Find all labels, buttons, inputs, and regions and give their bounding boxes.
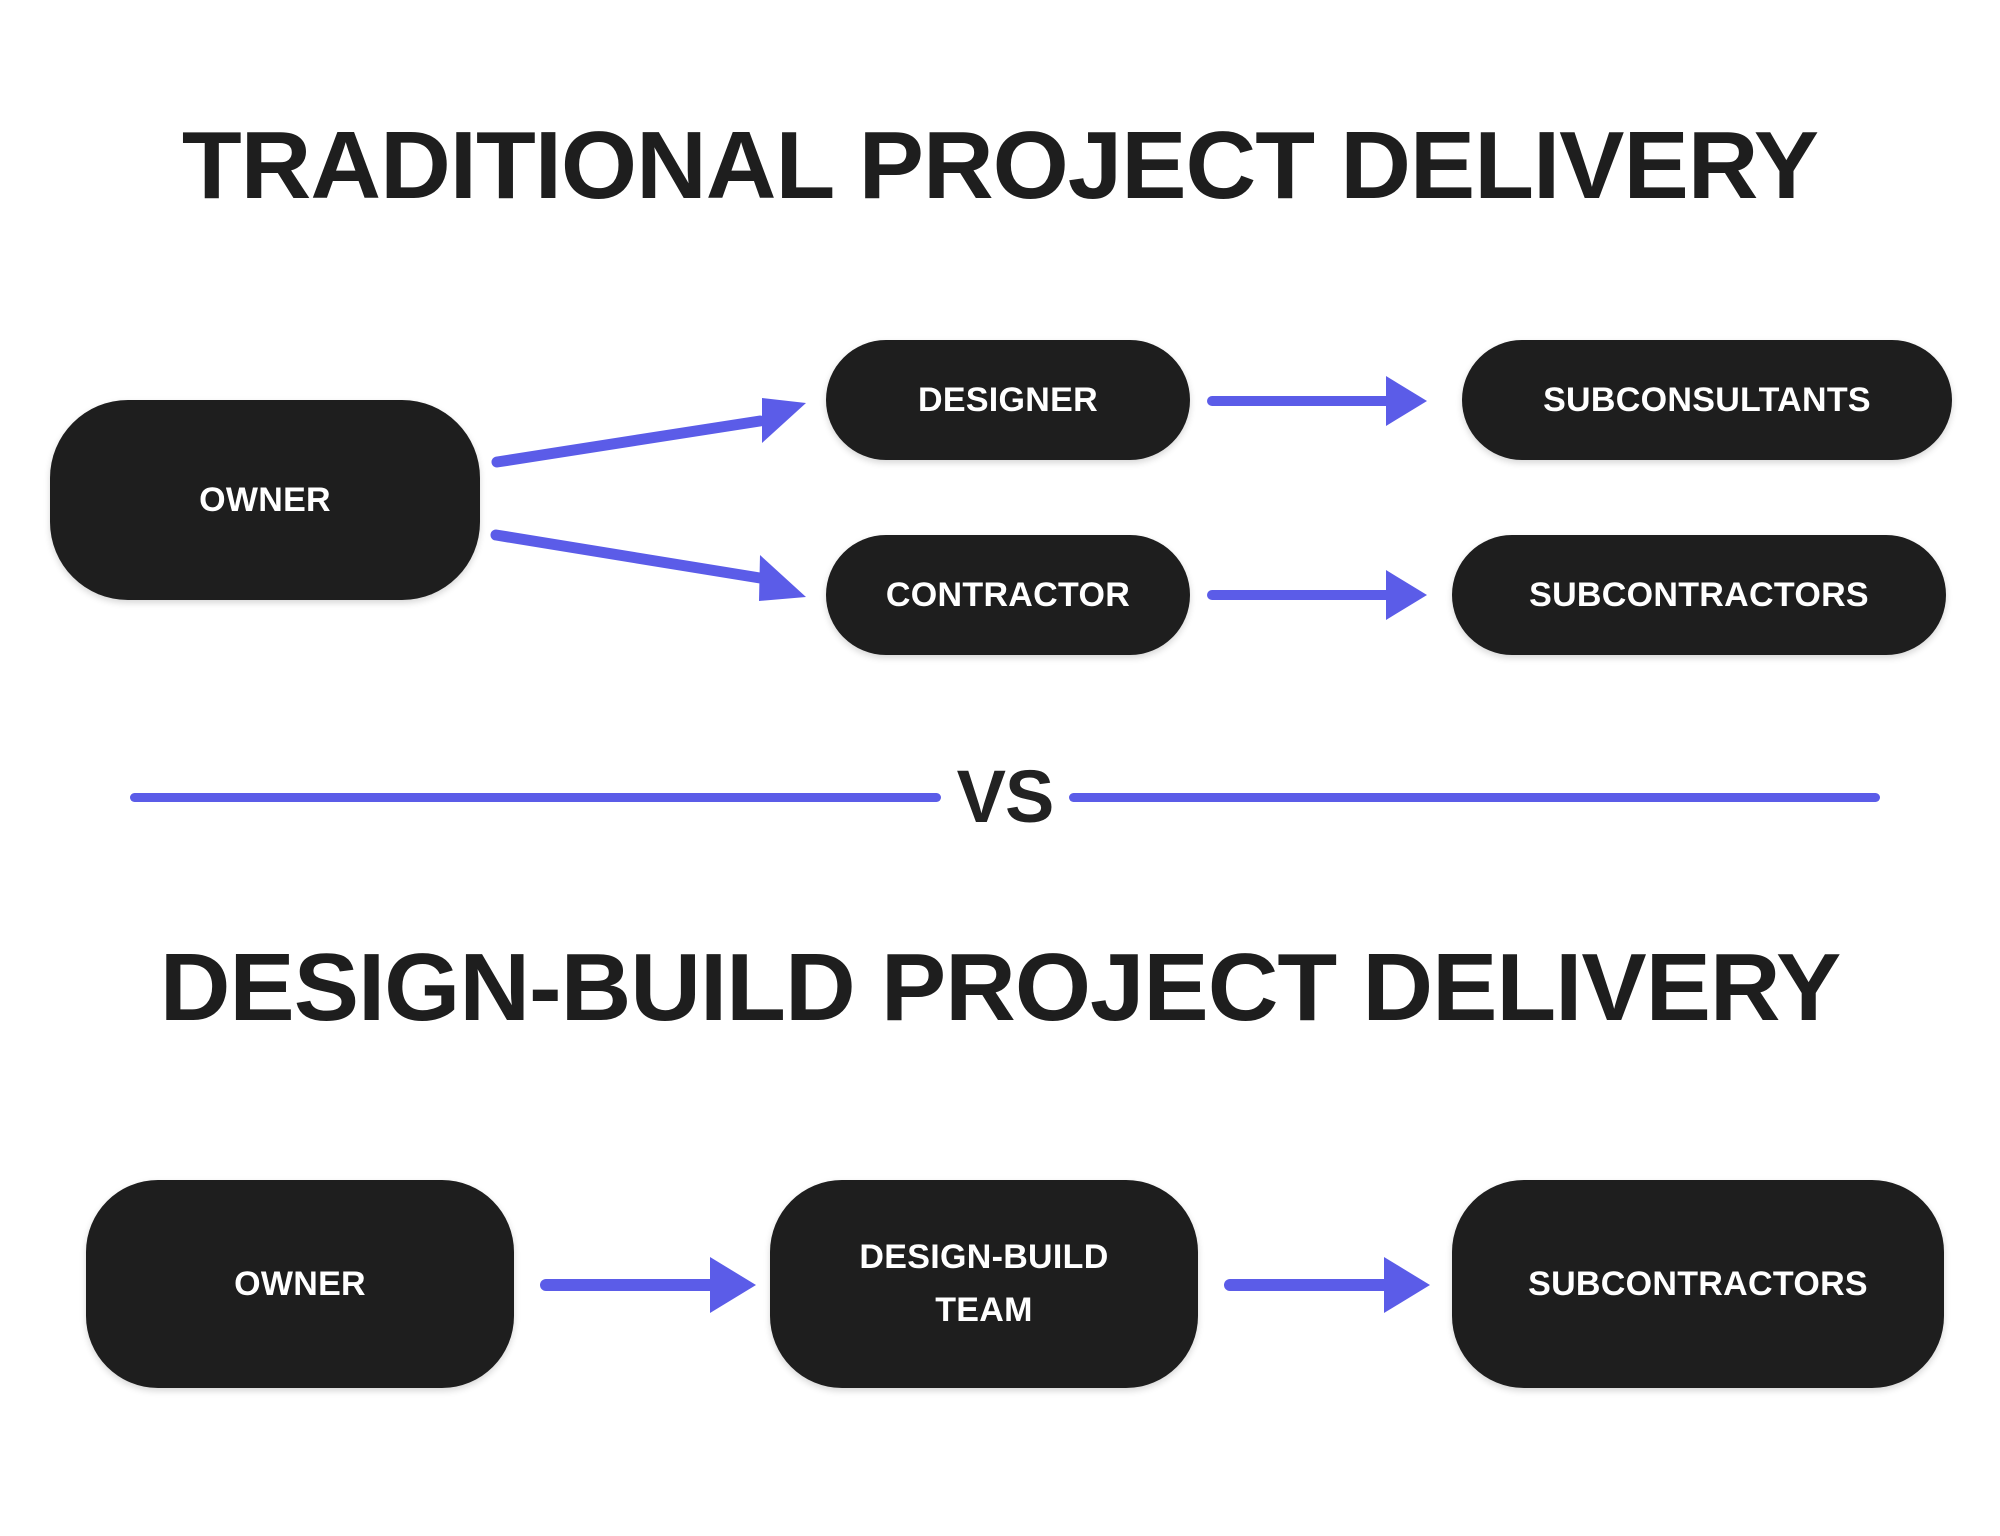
node-owner-traditional-label: OWNER [199, 481, 331, 520]
node-subconsultants[interactable]: SUBCONSULTANTS [1462, 340, 1952, 460]
divider-rule-right [1069, 793, 1880, 802]
arrow-owner-to-contractor [496, 535, 806, 601]
arrow-designer-to-subconsultants [1212, 376, 1427, 426]
node-subconsultants-label: SUBCONSULTANTS [1543, 381, 1871, 420]
node-owner-traditional[interactable]: OWNER [50, 400, 480, 600]
node-designer-label: DESIGNER [918, 381, 1098, 420]
vs-label: VS [941, 760, 1070, 834]
node-design-build-team-label-line2: TEAM [859, 1284, 1108, 1337]
node-contractor[interactable]: CONTRACTOR [826, 535, 1190, 655]
node-subcontractors-design-build-label: SUBCONTRACTORS [1528, 1265, 1868, 1304]
node-designer[interactable]: DESIGNER [826, 340, 1190, 460]
arrow-owner-to-designer [497, 398, 806, 462]
arrow-contractor-to-subcontractors [1212, 570, 1427, 620]
node-subcontractors-traditional-label: SUBCONTRACTORS [1529, 576, 1869, 615]
node-owner-design-build-label: OWNER [234, 1265, 366, 1304]
page-title-traditional: TRADITIONAL PROJECT DELIVERY [0, 118, 2000, 214]
node-owner-design-build[interactable]: OWNER [86, 1180, 514, 1388]
page-title-design-build: DESIGN-BUILD PROJECT DELIVERY [0, 940, 2000, 1036]
vs-divider: VS [0, 742, 2000, 852]
node-design-build-team-label-line1: DESIGN-BUILD [859, 1231, 1108, 1284]
arrow-design-build-team-to-subcontractors [1230, 1257, 1430, 1313]
divider-rule-left [130, 793, 941, 802]
node-subcontractors-traditional[interactable]: SUBCONTRACTORS [1452, 535, 1946, 655]
diagram-canvas: TRADITIONAL PROJECT DELIVERY OWNER DESIG… [0, 0, 2000, 1536]
node-subcontractors-design-build[interactable]: SUBCONTRACTORS [1452, 1180, 1944, 1388]
arrow-owner-to-design-build-team [546, 1257, 756, 1313]
node-contractor-label: CONTRACTOR [886, 576, 1130, 615]
node-design-build-team[interactable]: DESIGN-BUILD TEAM [770, 1180, 1198, 1388]
